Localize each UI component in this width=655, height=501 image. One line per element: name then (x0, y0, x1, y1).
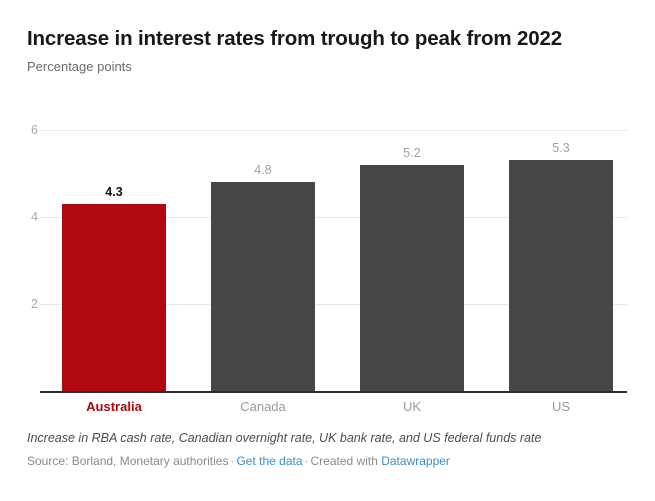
bar-value-label-us: 5.3 (509, 141, 613, 155)
bar-value-label-australia: 4.3 (62, 185, 166, 199)
bar-uk[interactable] (360, 165, 464, 391)
bar-value-label-canada: 4.8 (211, 163, 315, 177)
source-text: Source: Borland, Monetary authorities (27, 454, 228, 468)
y-axis-tick-label: 2 (22, 298, 38, 310)
get-the-data-link[interactable]: Get the data (236, 454, 302, 468)
gridline-6 (40, 130, 627, 131)
footer-note: Increase in RBA cash rate, Canadian over… (27, 430, 632, 447)
x-axis-label-australia: Australia (62, 399, 166, 415)
footer-source: Source: Borland, Monetary authorities·Ge… (27, 453, 632, 470)
chart-footer: Increase in RBA cash rate, Canadian over… (27, 430, 632, 470)
y-axis-tick-label: 6 (22, 124, 38, 136)
datawrapper-link[interactable]: Datawrapper (381, 454, 450, 468)
bar-us[interactable] (509, 160, 613, 391)
y-axis-tick-label: 4 (22, 211, 38, 223)
axis-baseline (40, 391, 627, 393)
chart-container: Increase in interest rates from trough t… (0, 0, 655, 501)
bar-canada[interactable] (211, 182, 315, 391)
plot-area: 246 4.3Australia4.8Canada5.2UK5.3US (0, 0, 655, 501)
x-axis-label-uk: UK (360, 399, 464, 415)
x-axis-label-us: US (509, 399, 613, 415)
created-with-text: Created with (311, 454, 378, 468)
bar-value-label-uk: 5.2 (360, 146, 464, 160)
separator-dot-2: · (303, 454, 311, 468)
x-axis-label-canada: Canada (211, 399, 315, 415)
bar-australia[interactable] (62, 204, 166, 391)
